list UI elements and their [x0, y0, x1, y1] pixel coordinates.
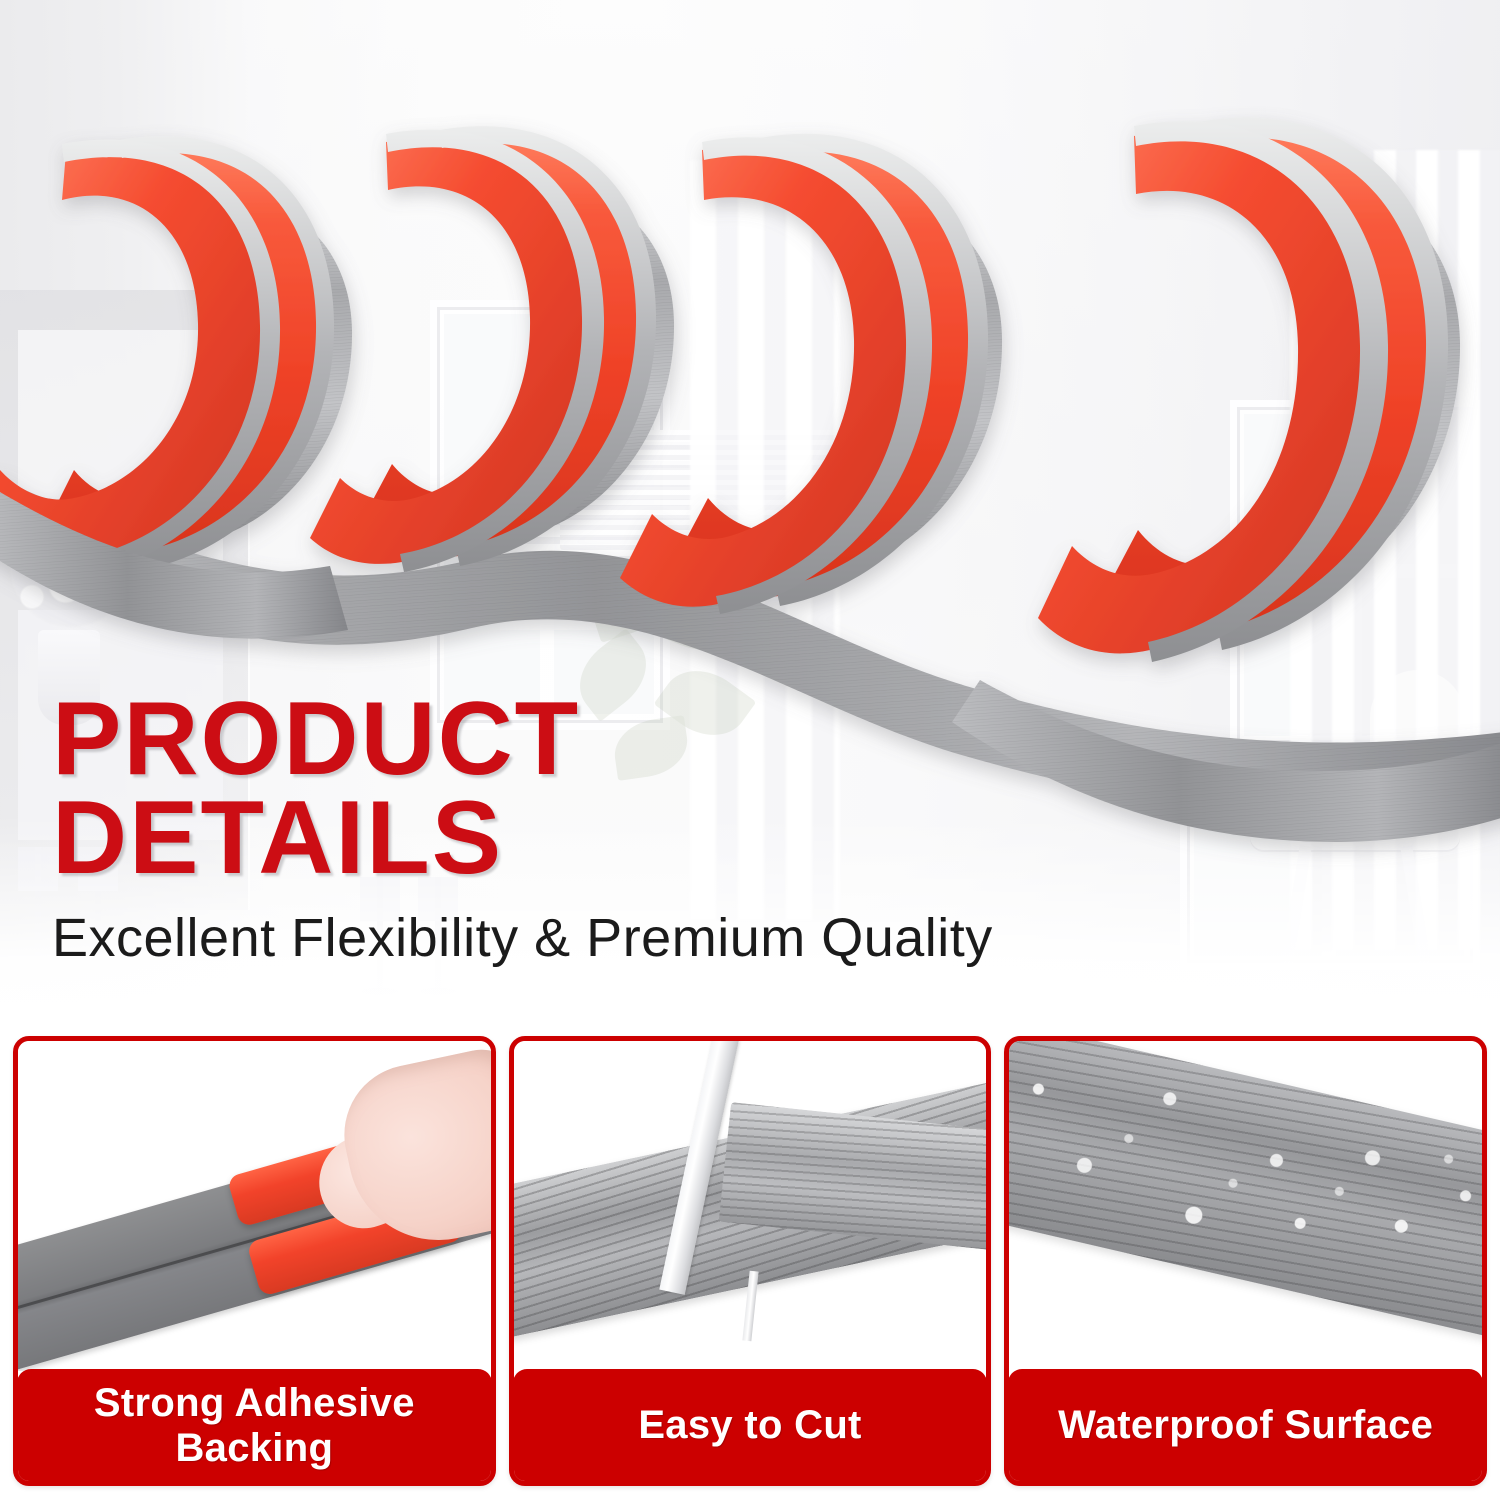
headline-line-2: DETAILS: [52, 789, 1252, 888]
feature-caption: Waterproof Surface: [1008, 1369, 1483, 1482]
adhesive-peel-photo: [18, 1041, 491, 1371]
cutting-photo: [514, 1041, 987, 1371]
page-title: PRODUCT DETAILS: [52, 690, 1252, 888]
feature-card-easy-to-cut: Easy to Cut: [509, 1036, 992, 1486]
water-droplets-icon: [1009, 1041, 1482, 1348]
feature-panel-row: Strong Adhesive Backing Easy to Cut Wate…: [13, 1036, 1487, 1486]
feature-caption: Strong Adhesive Backing: [17, 1369, 492, 1482]
background-flowers: [6, 505, 136, 640]
feature-card-strong-adhesive-backing: Strong Adhesive Backing: [13, 1036, 496, 1486]
hero-section: PRODUCT DETAILS Excellent Flexibility & …: [0, 0, 1500, 1025]
feature-caption: Easy to Cut: [513, 1369, 988, 1482]
waterproof-photo: [1009, 1041, 1482, 1371]
page-subtitle: Excellent Flexibility & Premium Quality: [52, 910, 1252, 967]
title-block: PRODUCT DETAILS Excellent Flexibility & …: [52, 690, 1252, 966]
feature-card-waterproof-surface: Waterproof Surface: [1004, 1036, 1487, 1486]
product-detail-image: PRODUCT DETAILS Excellent Flexibility & …: [0, 0, 1500, 1500]
